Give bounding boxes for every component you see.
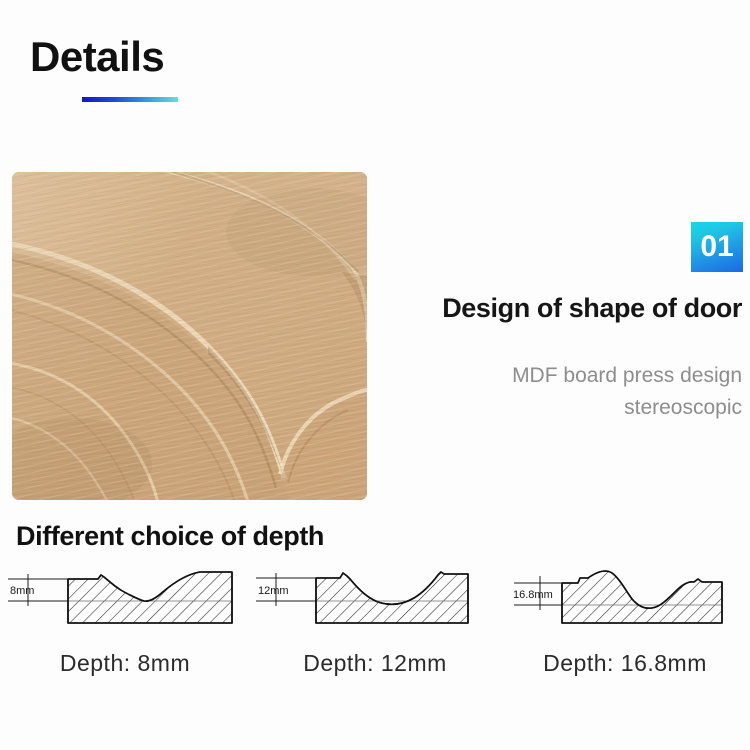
dimension-label-12mm: 12mm <box>258 585 289 597</box>
depth-caption-16-8mm: Depth: 16.8mm <box>543 650 707 677</box>
depth-profile-diagram-12mm: 12mm <box>250 565 500 640</box>
dimension-label-8mm: 8mm <box>10 585 34 597</box>
feature-subtitle-line-2: stereoscopic <box>322 392 742 424</box>
depth-option-8mm: 8mm Depth: 8mm <box>0 565 250 677</box>
feature-heading: Design of shape of door <box>442 293 742 324</box>
depth-caption-12mm: Depth: 12mm <box>303 650 447 677</box>
depth-profile-diagram-8mm: 8mm <box>0 565 250 640</box>
wood-texture-graphic <box>12 172 367 500</box>
page-title: Details <box>30 36 164 78</box>
depth-option-16-8mm: 16.8mm Depth: 16.8mm <box>500 565 750 677</box>
title-underline-accent <box>82 97 178 102</box>
dimension-label-16-8mm: 16.8mm <box>513 589 553 601</box>
door-panel-image <box>12 172 367 500</box>
depth-option-12mm: 12mm Depth: 12mm <box>250 565 500 677</box>
depth-profile-diagram-16-8mm: 16.8mm <box>500 565 750 640</box>
depth-caption-8mm: Depth: 8mm <box>60 650 190 677</box>
depth-options-row: 8mm Depth: 8mm <box>0 565 750 677</box>
depth-section-heading: Different choice of depth <box>16 521 324 552</box>
feature-subtitle-line-1: MDF board press design <box>322 360 742 392</box>
feature-number-badge: 01 <box>691 222 743 272</box>
feature-subtitle: MDF board press design stereoscopic <box>322 360 742 424</box>
